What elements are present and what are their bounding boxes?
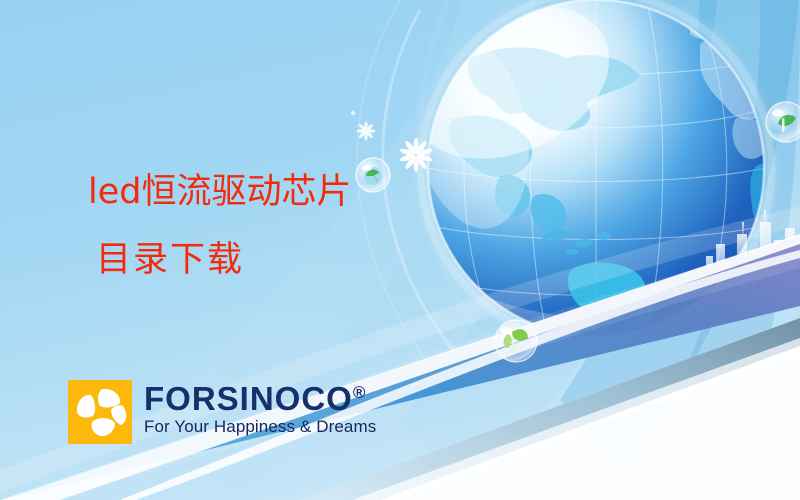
company-logo[interactable]: FORSINOCO® For Your Happiness & Dreams bbox=[68, 380, 376, 444]
registered-trademark-icon: ® bbox=[353, 383, 366, 402]
four-petal-flower-icon bbox=[68, 380, 132, 444]
headline-line-2: 目录下载 bbox=[96, 231, 244, 282]
logo-wordmark-text: FORSINOCO bbox=[144, 380, 353, 417]
headline-line-1: led恒流驱动芯片 bbox=[88, 163, 351, 214]
logo-text-block: FORSINOCO® For Your Happiness & Dreams bbox=[144, 380, 376, 436]
bubble-right-edge bbox=[766, 102, 800, 142]
poster-canvas: led恒流驱动芯片 目录下载 FORSINOCO® For Your Happi… bbox=[0, 0, 800, 500]
bubble-globe-small bbox=[356, 158, 390, 192]
sparkle-dot bbox=[351, 111, 355, 115]
logo-tagline: For Your Happiness & Dreams bbox=[144, 418, 376, 437]
bubble-leaf bbox=[495, 320, 537, 362]
logo-wordmark: FORSINOCO® bbox=[144, 382, 376, 417]
